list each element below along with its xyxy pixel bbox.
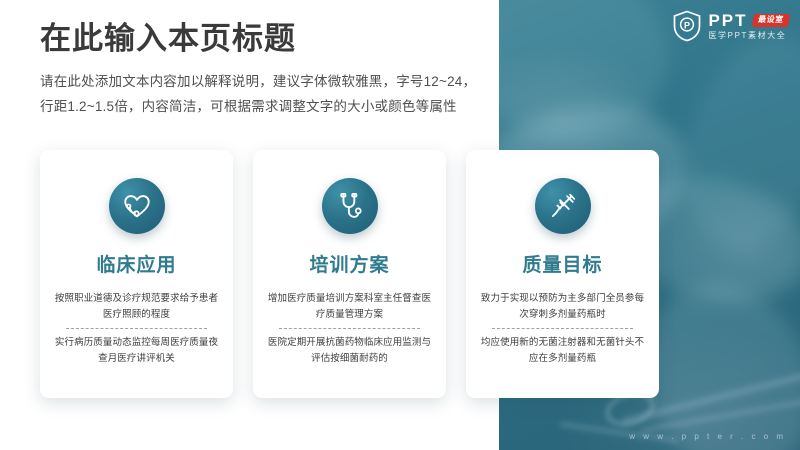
footer-url: w w w . p p t e r . c o m <box>629 432 786 441</box>
card-text-bottom: 均应使用新的无菌注射器和无菌针头不应在多剂量药瓶 <box>480 335 645 366</box>
card-quality-goal[interactable]: 质量目标 致力于实现以预防为主多部门全员参每次穿刺多剂量药瓶时 均应使用新的无菌… <box>466 150 659 398</box>
card-text-bottom: 实行病历质量动态监控每周医疗质量夜查月医疗讲评机关 <box>54 335 219 366</box>
header-block: 在此输入本页标题 请在此处添加文本内容加以解释说明，建议字体微软雅黑，字号12~… <box>40 20 490 120</box>
page-subtitle: 请在此处添加文本内容加以解释说明，建议字体微软雅黑，字号12~24， 行距1.2… <box>40 70 490 120</box>
page-subtitle-line-2: 行距1.2~1.5倍，内容简洁，可根据需求调整文字的大小或颜色等属性 <box>40 99 457 114</box>
card-title: 临床应用 <box>54 250 219 277</box>
svg-text:P: P <box>684 20 690 30</box>
logo-top-row: PPT 最设室 <box>708 12 788 29</box>
page-title: 在此输入本页标题 <box>40 20 490 57</box>
card-training-plan[interactable]: 培训方案 增加医疗质量培训方案科室主任督查医疗质量管理方案 医院定期开展抗菌药物… <box>253 150 446 398</box>
card-divider <box>279 328 420 329</box>
card-body: 增加医疗质量培训方案科室主任督查医疗质量管理方案 医院定期开展抗菌药物临床应用监… <box>267 291 432 367</box>
heart-stethoscope-icon <box>122 191 152 221</box>
logo-text-block: PPT 最设室 医学PPT素材大全 <box>708 12 788 40</box>
card-divider <box>66 328 207 329</box>
card-icon-circle <box>535 178 591 234</box>
shield-logo-icon: P <box>672 10 702 42</box>
stethoscope-icon <box>335 191 365 221</box>
card-title: 培训方案 <box>267 250 432 277</box>
card-list: 临床应用 按照职业道德及诊疗规范要求给予患者医疗照顾的程度 实行病历质量动态监控… <box>40 150 660 398</box>
card-text-top: 按照职业道德及诊疗规范要求给予患者医疗照顾的程度 <box>54 291 219 322</box>
card-icon-circle <box>322 178 378 234</box>
card-clinical-application[interactable]: 临床应用 按照职业道德及诊疗规范要求给予患者医疗照顾的程度 实行病历质量动态监控… <box>40 150 233 398</box>
page-subtitle-line-1: 请在此处添加文本内容加以解释说明，建议字体微软雅黑，字号12~24， <box>40 74 476 89</box>
card-text-top: 致力于实现以预防为主多部门全员参每次穿刺多剂量药瓶时 <box>480 291 645 322</box>
card-body: 致力于实现以预防为主多部门全员参每次穿刺多剂量药瓶时 均应使用新的无菌注射器和无… <box>480 291 645 367</box>
card-icon-circle <box>109 178 165 234</box>
card-title: 质量目标 <box>480 250 645 277</box>
logo-subtitle: 医学PPT素材大全 <box>708 32 788 40</box>
brand-logo[interactable]: P PPT 最设室 医学PPT素材大全 <box>672 10 788 42</box>
card-divider <box>492 328 633 329</box>
logo-brand-text: PPT <box>708 12 747 29</box>
logo-badge: 最设室 <box>752 14 789 27</box>
syringe-icon <box>548 191 578 221</box>
card-body: 按照职业道德及诊疗规范要求给予患者医疗照顾的程度 实行病历质量动态监控每周医疗质… <box>54 291 219 367</box>
card-text-top: 增加医疗质量培训方案科室主任督查医疗质量管理方案 <box>267 291 432 322</box>
card-text-bottom: 医院定期开展抗菌药物临床应用监测与评估按细菌耐药的 <box>267 335 432 366</box>
